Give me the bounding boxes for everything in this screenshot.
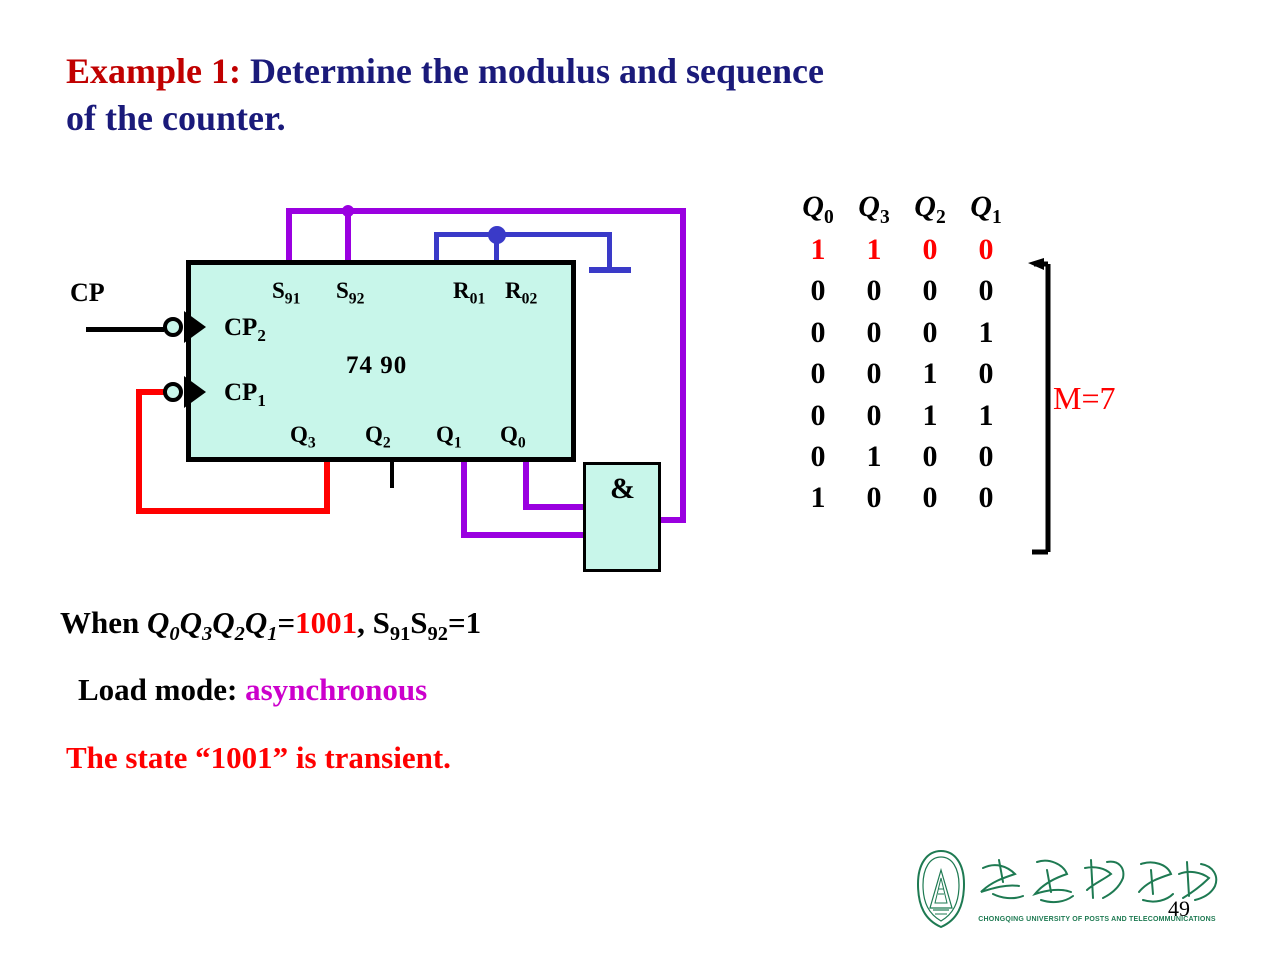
state-cell: 1 — [790, 229, 846, 270]
wire-purple-right-vertical — [680, 208, 686, 523]
note-line-2: Load mode: asynchronous — [78, 672, 427, 708]
pin-label-q0: Q0 — [500, 422, 526, 453]
wire-red-q3-drop — [324, 462, 330, 514]
state-cell: 0 — [958, 477, 1014, 518]
state-header-q1: Q1 — [958, 190, 1014, 229]
inverter-bubble-cp1-icon — [163, 382, 183, 402]
wire-purple-q0-drop — [523, 462, 529, 510]
label-cp-input: CP — [70, 278, 105, 308]
note-line-3: The state “1001” is transient. — [66, 740, 451, 776]
state-cell: 1 — [958, 312, 1014, 353]
state-cell: 0 — [958, 353, 1014, 394]
pin-label-cp2: CP2 — [224, 314, 266, 346]
clock-triangle-cp2-icon — [184, 311, 206, 343]
state-cell: 1 — [902, 353, 958, 394]
note1-comma: , — [357, 605, 373, 640]
state-cell: 1 — [902, 395, 958, 436]
state-cell: 0 — [902, 312, 958, 353]
note2-value: asynchronous — [245, 672, 427, 707]
pin-label-s92: S92 — [336, 278, 364, 309]
note1-equals: = — [277, 605, 295, 640]
state-cell: 1 — [958, 395, 1014, 436]
wire-purple-q1-drop — [461, 462, 467, 538]
state-cell: 0 — [790, 312, 846, 353]
wire-red-vertical — [136, 389, 142, 514]
state-cell: 0 — [902, 229, 958, 270]
state-cell: 1 — [846, 229, 902, 270]
state-cell: 0 — [902, 477, 958, 518]
wire-blue-ground-stem — [607, 232, 612, 270]
state-cell: 0 — [846, 270, 902, 311]
state-cell: 0 — [846, 477, 902, 518]
junction-dot-purple — [342, 205, 354, 217]
state-cell: 0 — [846, 312, 902, 353]
pin-label-q3: Q3 — [290, 422, 316, 453]
pin-label-q2: Q2 — [365, 422, 391, 453]
wire-purple-q0-to-and — [523, 504, 587, 510]
state-cell: 0 — [790, 270, 846, 311]
inverter-bubble-cp2-icon — [163, 317, 183, 337]
note1-prefix: When — [60, 605, 147, 640]
and-gate-label: & — [610, 472, 635, 506]
state-header-q0: Q0 — [790, 190, 846, 229]
state-cell: 1 — [790, 477, 846, 518]
state-cell: 0 — [790, 436, 846, 477]
pin-label-q1: Q1 — [436, 422, 462, 453]
wire-blue-r01-drop — [434, 232, 439, 262]
pin-label-r02: R02 — [505, 278, 537, 309]
state-cell: 0 — [958, 270, 1014, 311]
wire-black-cp-input — [86, 327, 164, 332]
wire-red-bottom — [136, 508, 330, 514]
wire-black-q2-stub — [390, 462, 394, 488]
wire-purple-s91-drop — [286, 208, 292, 263]
state-cell: 0 — [958, 229, 1014, 270]
junction-dot-blue — [488, 226, 506, 244]
logo-emblem-icon — [915, 848, 967, 930]
state-cell: 0 — [790, 395, 846, 436]
ground-symbol-icon — [589, 267, 631, 273]
state-cell: 0 — [846, 353, 902, 394]
wire-purple-q1-to-and — [461, 532, 587, 538]
state-cell: 1 — [846, 436, 902, 477]
state-table-header: Q0 Q3 Q2 Q1 — [790, 190, 1090, 229]
state-cell: 0 — [790, 353, 846, 394]
wire-purple-and-output — [658, 517, 686, 523]
chip-name-label: 74 90 — [346, 352, 407, 380]
note1-expression: Q0Q3Q2Q1 — [147, 605, 277, 640]
modulus-label: M=7 — [1053, 380, 1116, 417]
state-cell: 0 — [902, 270, 958, 311]
pin-label-r01: R01 — [453, 278, 485, 309]
wire-blue-top — [434, 232, 612, 237]
state-header-q3: Q3 — [846, 190, 902, 229]
pin-label-s91: S91 — [272, 278, 300, 309]
state-header-q2: Q2 — [902, 190, 958, 229]
state-cell: 0 — [846, 395, 902, 436]
note1-tail: S91S92=1 — [373, 605, 482, 640]
pin-label-cp1: CP1 — [224, 379, 266, 411]
page-number: 49 — [1168, 896, 1190, 922]
note2-prefix: Load mode: — [78, 672, 245, 707]
note-line-1: When Q0Q3Q2Q1=1001, S91S92=1 — [60, 605, 481, 646]
wire-red-to-cp1 — [136, 389, 166, 395]
state-cell: 0 — [958, 436, 1014, 477]
note1-value: 1001 — [295, 605, 357, 640]
circuit-diagram: CP S91 S92 R01 R02 CP2 CP1 74 90 Q3 Q2 Q… — [0, 0, 760, 620]
clock-triangle-cp1-icon — [184, 376, 206, 408]
sequence-loop-bracket-icon — [1026, 258, 1054, 558]
state-cell: 0 — [902, 436, 958, 477]
